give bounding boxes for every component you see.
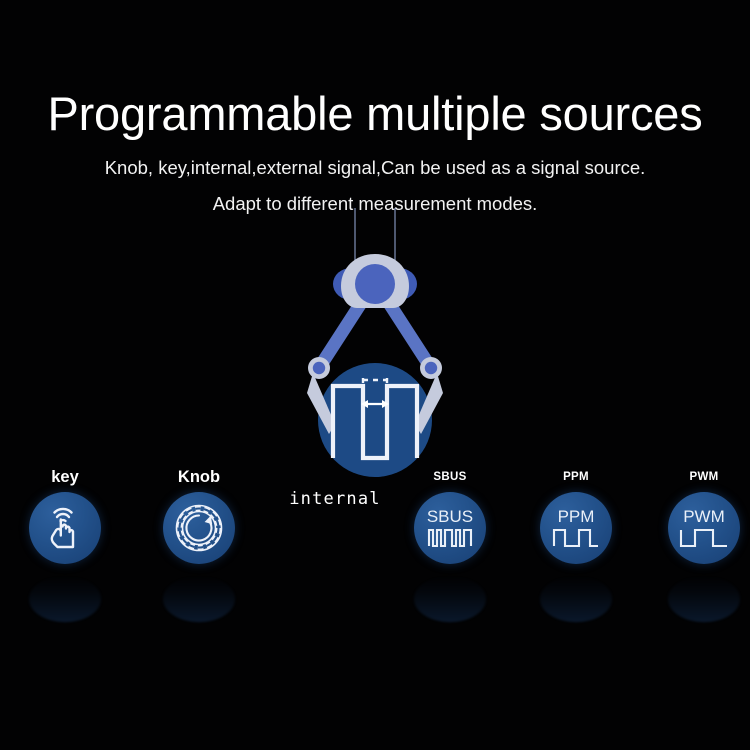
pivot-head-pin: [355, 264, 395, 304]
source-label-knob: Knob: [144, 468, 254, 486]
pwm-icon-text: PWM: [683, 507, 725, 526]
source-disc-wrap-key: [10, 492, 120, 566]
ppm-icon-text: PPM: [558, 507, 595, 526]
source-disc-pwm[interactable]: PWM: [668, 492, 740, 564]
source-reflection-pwm: [668, 576, 740, 622]
sbus-icon-text: SBUS: [427, 507, 473, 526]
internal-source-label: internal: [255, 489, 415, 509]
source-item-pwm[interactable]: PWM PWM: [649, 468, 750, 566]
source-disc-ppm[interactable]: PPM: [540, 492, 612, 564]
source-item-ppm[interactable]: PPM PPM: [521, 468, 631, 566]
source-disc-wrap-knob: [144, 492, 254, 566]
caliper-illustration: [255, 208, 495, 508]
sbus-waveform-icon: SBUS: [419, 502, 481, 554]
source-label-ppm: PPM: [521, 468, 631, 486]
source-disc-wrap-sbus: SBUS: [395, 492, 505, 566]
source-item-sbus[interactable]: SBUS SBUS: [395, 468, 505, 566]
source-reflection-ppm: [540, 576, 612, 622]
source-label-key: key: [10, 468, 120, 486]
ppm-waveform-icon: PPM: [545, 502, 607, 554]
source-disc-key[interactable]: [29, 492, 101, 564]
promo-banner: Programmable multiple sources Knob, key,…: [0, 0, 750, 750]
page-title: Programmable multiple sources: [0, 88, 750, 140]
source-label-pwm: PWM: [649, 468, 750, 486]
source-item-key[interactable]: key: [10, 468, 120, 566]
touch-hand-icon: [43, 505, 87, 551]
source-item-knob[interactable]: Knob: [144, 468, 254, 566]
source-disc-sbus[interactable]: SBUS: [414, 492, 486, 564]
pwm-waveform-icon: PWM: [673, 502, 735, 554]
source-disc-wrap-ppm: PPM: [521, 492, 631, 566]
source-disc-wrap-pwm: PWM: [649, 492, 750, 566]
source-reflection-key: [29, 576, 101, 622]
upper-arm-left: [319, 300, 363, 368]
subtitle-line-1: Knob, key,internal,external signal,Can b…: [0, 157, 750, 179]
rotary-knob-icon: [172, 501, 226, 555]
elbow-joint-right-pin: [425, 362, 437, 374]
source-label-sbus: SBUS: [395, 468, 505, 486]
source-reflection-knob: [163, 576, 235, 622]
source-reflection-sbus: [414, 576, 486, 622]
elbow-joint-left-pin: [313, 362, 325, 374]
source-disc-knob[interactable]: [163, 492, 235, 564]
upper-arm-right: [387, 300, 431, 368]
